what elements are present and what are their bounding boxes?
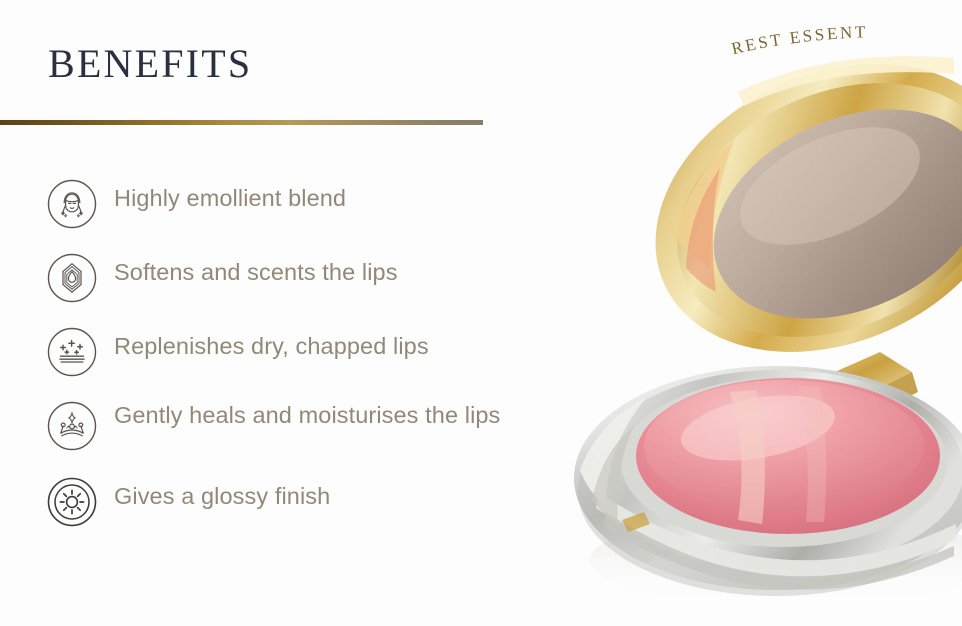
page-title: BENEFITS: [48, 42, 252, 86]
benefit-item: Gives a glossy finish: [46, 474, 566, 528]
benefits-content: BENEFITS: [0, 0, 600, 626]
benefit-item: Replenishes dry, chapped lips: [46, 324, 566, 378]
woman-face-icon: [46, 178, 98, 230]
benefit-label: Gives a glossy finish: [114, 474, 534, 510]
sparkle-surface-icon: [46, 326, 98, 378]
benefit-item: Gently heals and moisturises the lips: [46, 398, 566, 452]
gloss-sunburst-icon: [46, 476, 98, 528]
benefit-label: Gently heals and moisturises the lips: [114, 398, 534, 429]
benefits-page: REST ESSENT: [0, 0, 962, 626]
crown-sparkle-icon: [46, 400, 98, 452]
gold-gradient-divider: [0, 120, 483, 125]
product-image: REST ESSENT: [562, 0, 962, 626]
benefit-label: Replenishes dry, chapped lips: [114, 324, 534, 360]
benefit-item: Highly emollient blend: [46, 176, 566, 230]
droplet-gem-icon: [46, 252, 98, 304]
benefit-label: Highly emollient blend: [114, 176, 534, 212]
benefit-label: Softens and scents the lips: [114, 250, 534, 286]
benefits-list: Highly emollient blend Softens and scent…: [46, 176, 566, 548]
benefit-item: Softens and scents the lips: [46, 250, 566, 304]
